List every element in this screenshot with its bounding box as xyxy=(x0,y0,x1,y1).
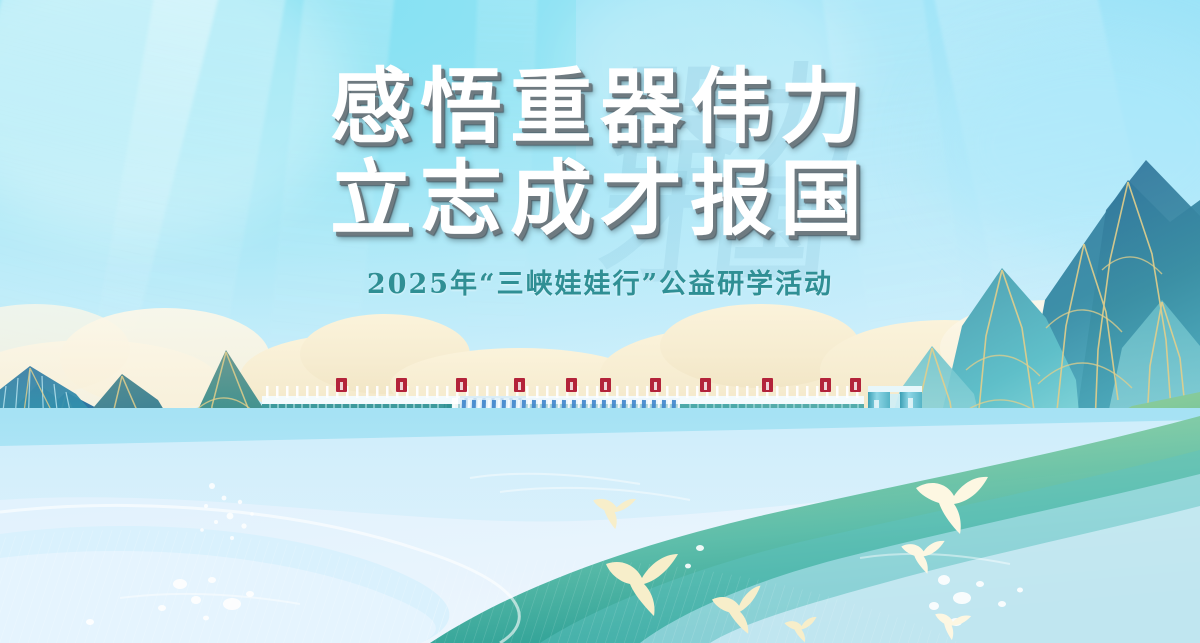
poster-title-block: 感悟重器伟力 立志成才报国 2025年“三峡娃娃行”公益研学活动 xyxy=(0,62,1200,301)
poster-subtitle: 2025年“三峡娃娃行”公益研学活动 xyxy=(0,262,1200,301)
swallow-icon xyxy=(707,584,769,639)
swallow-icon xyxy=(912,474,992,536)
swallow-icon xyxy=(600,552,686,618)
poster-title-line-1: 感悟重器伟力 xyxy=(0,62,1200,154)
swallow-icon xyxy=(899,539,947,575)
swallow-icon xyxy=(589,492,637,532)
poster-canvas: 器力 才国 xyxy=(0,0,1200,643)
swallow-icon xyxy=(783,616,820,643)
poster-title-line-2: 立志成才报国 xyxy=(0,154,1200,246)
swallow-icon xyxy=(930,609,973,643)
water-bubbles xyxy=(186,468,296,558)
